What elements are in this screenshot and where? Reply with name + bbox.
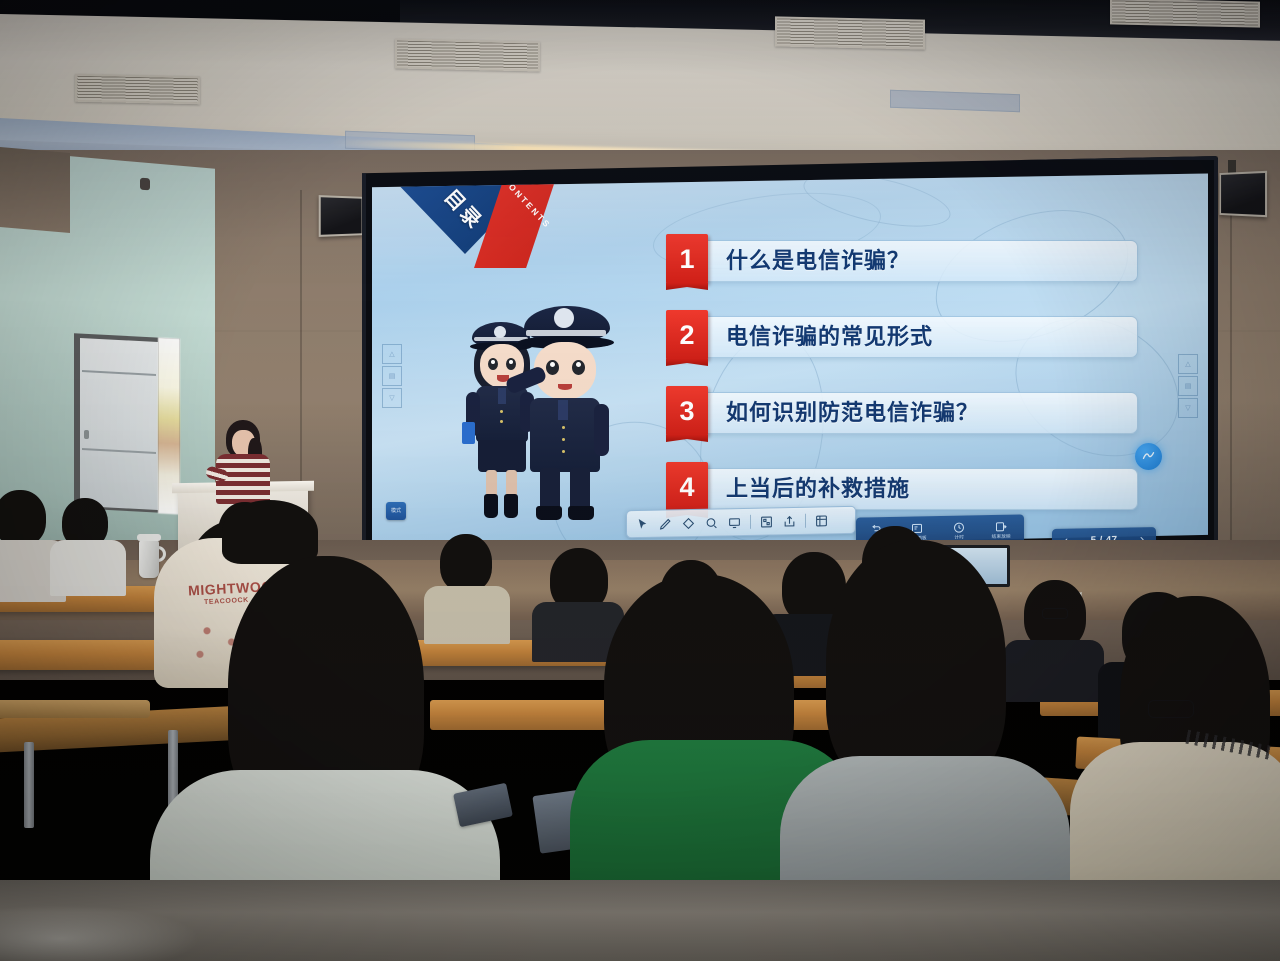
contents-number: 2	[666, 310, 708, 360]
door[interactable]	[80, 338, 158, 510]
screen-icon[interactable]	[724, 512, 745, 532]
contents-number: 4	[666, 462, 708, 512]
left-page-widget[interactable]: △ ▤ ▽	[382, 344, 402, 410]
slide-mode-button[interactable]: 模式	[386, 502, 406, 520]
toolbar-divider	[750, 515, 751, 529]
wall-speaker-left	[319, 195, 364, 237]
contents-label: 如何识别防范电信诈骗？	[726, 395, 979, 427]
eraser-icon[interactable]	[678, 513, 699, 533]
contents-label: 什么是电信诈骗？	[726, 243, 910, 275]
page-thumb[interactable]: ▤	[1178, 376, 1198, 396]
exit-label: 结束放映	[992, 533, 1011, 539]
desk-leg	[24, 742, 34, 828]
toolbar-divider	[805, 514, 806, 528]
door-handle[interactable]	[84, 430, 89, 439]
magnifier-icon[interactable]	[701, 512, 722, 532]
floor-reflection	[0, 905, 200, 961]
share-icon[interactable]	[779, 511, 800, 531]
glasses	[1042, 608, 1068, 619]
contents-item[interactable]: 2 电信诈骗的常见形式	[662, 310, 1162, 364]
qrcode-icon[interactable]	[756, 511, 777, 531]
presentation-screen[interactable]: 目录 CONTENTS	[372, 172, 1208, 552]
presentation-toolbar[interactable]	[626, 506, 856, 538]
seat-back	[0, 700, 150, 718]
tumbler-lid	[137, 534, 161, 541]
contents-list: 1 什么是电信诈骗？ 2 电信诈骗的常见形式 3 如何识别防范电信诈骗？ 4 上…	[662, 234, 1162, 538]
contents-label: 上当后的补救措施	[726, 471, 910, 503]
clock-icon[interactable]: 计时	[953, 521, 965, 540]
contents-ribbon: 目录 CONTENTS	[390, 176, 580, 268]
water-tumbler	[139, 540, 159, 578]
exit-icon[interactable]: 结束放映	[992, 520, 1011, 539]
page-thumb[interactable]: ▤	[382, 366, 402, 386]
hvac-vent	[775, 16, 925, 49]
left-wall-shadow	[0, 147, 70, 233]
slide-mode-label: 模式	[391, 509, 401, 514]
glasses	[1148, 700, 1194, 718]
lecture-hall-photo: 目录 CONTENTS	[0, 0, 1280, 961]
right-page-widget[interactable]: △ ▤ ▽	[1178, 354, 1198, 420]
security-camera	[140, 178, 150, 191]
contents-label: 电信诈骗的常见形式	[726, 319, 933, 351]
contents-item[interactable]: 3 如何识别防范电信诈骗？	[662, 386, 1162, 440]
grid-icon[interactable]	[811, 510, 832, 530]
page-down-icon[interactable]: ▽	[382, 388, 402, 408]
wall-speaker-right	[1219, 171, 1267, 217]
police-mascots	[460, 300, 640, 528]
contents-number: 1	[666, 234, 708, 284]
hvac-vent	[75, 74, 200, 105]
cursor-icon[interactable]	[632, 514, 653, 534]
wall-panel-seam	[1230, 180, 1232, 560]
hvac-vent	[1110, 0, 1260, 28]
media-play-icon[interactable]	[1135, 443, 1162, 470]
page-down-icon[interactable]: ▽	[1178, 398, 1198, 418]
hvac-vent	[395, 38, 540, 71]
contents-number: 3	[666, 386, 708, 436]
presenter	[210, 420, 276, 500]
page-up-icon[interactable]: △	[382, 344, 402, 364]
page-up-icon[interactable]: △	[1178, 354, 1198, 374]
pen-icon[interactable]	[655, 513, 676, 533]
contents-item[interactable]: 1 什么是电信诈骗？	[662, 234, 1162, 288]
